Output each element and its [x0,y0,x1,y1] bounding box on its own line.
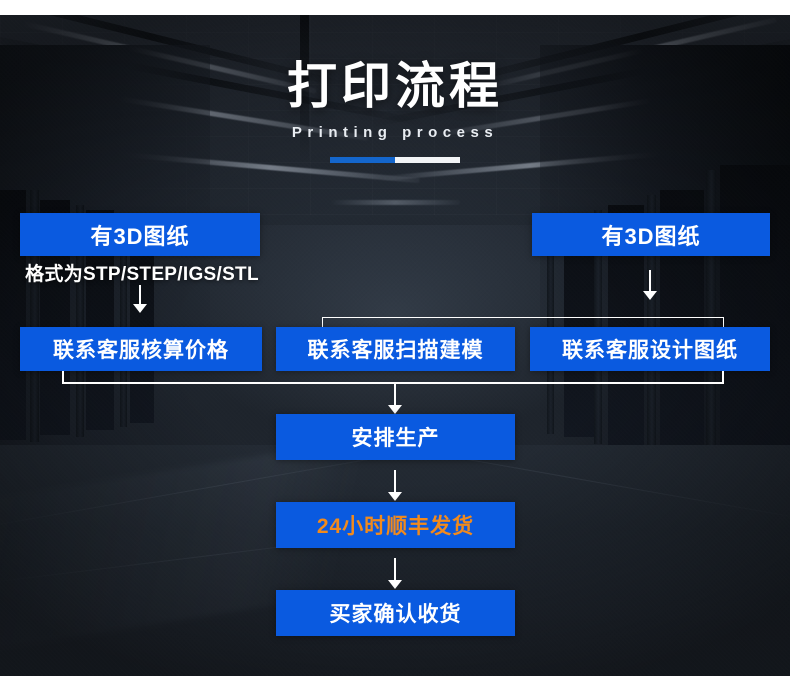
flow-box-has-3d-right[interactable]: 有3D图纸 [532,213,770,256]
flowchart: 有3D图纸 有3D图纸 格式为STP/STEP/IGS/STL 联系客服核算价格… [0,0,790,696]
flow-box-has-3d-left[interactable]: 有3D图纸 [20,213,260,256]
arrow-down-right [642,270,658,302]
flow-box-scan[interactable]: 联系客服扫描建模 [276,327,515,371]
arrow-down-to-shipping [387,470,403,502]
flow-box-production[interactable]: 安排生产 [276,414,515,460]
promo-flowchart-page: 打印流程 Printing process 有3D图纸 有3D图纸 格式为STP… [0,0,790,696]
format-note-label: 格式为STP/STEP/IGS/STL [24,259,260,286]
arrow-down-to-production [387,383,403,415]
bottom-white-strip [0,676,790,696]
arrow-down-left [132,285,148,315]
top-white-strip [0,0,790,15]
flow-box-design[interactable]: 联系客服设计图纸 [530,327,770,371]
flow-box-received[interactable]: 买家确认收货 [276,590,515,636]
flow-box-shipping[interactable]: 24小时顺丰发货 [276,502,515,548]
flow-box-quote[interactable]: 联系客服核算价格 [20,327,262,371]
arrow-down-to-received [387,558,403,590]
